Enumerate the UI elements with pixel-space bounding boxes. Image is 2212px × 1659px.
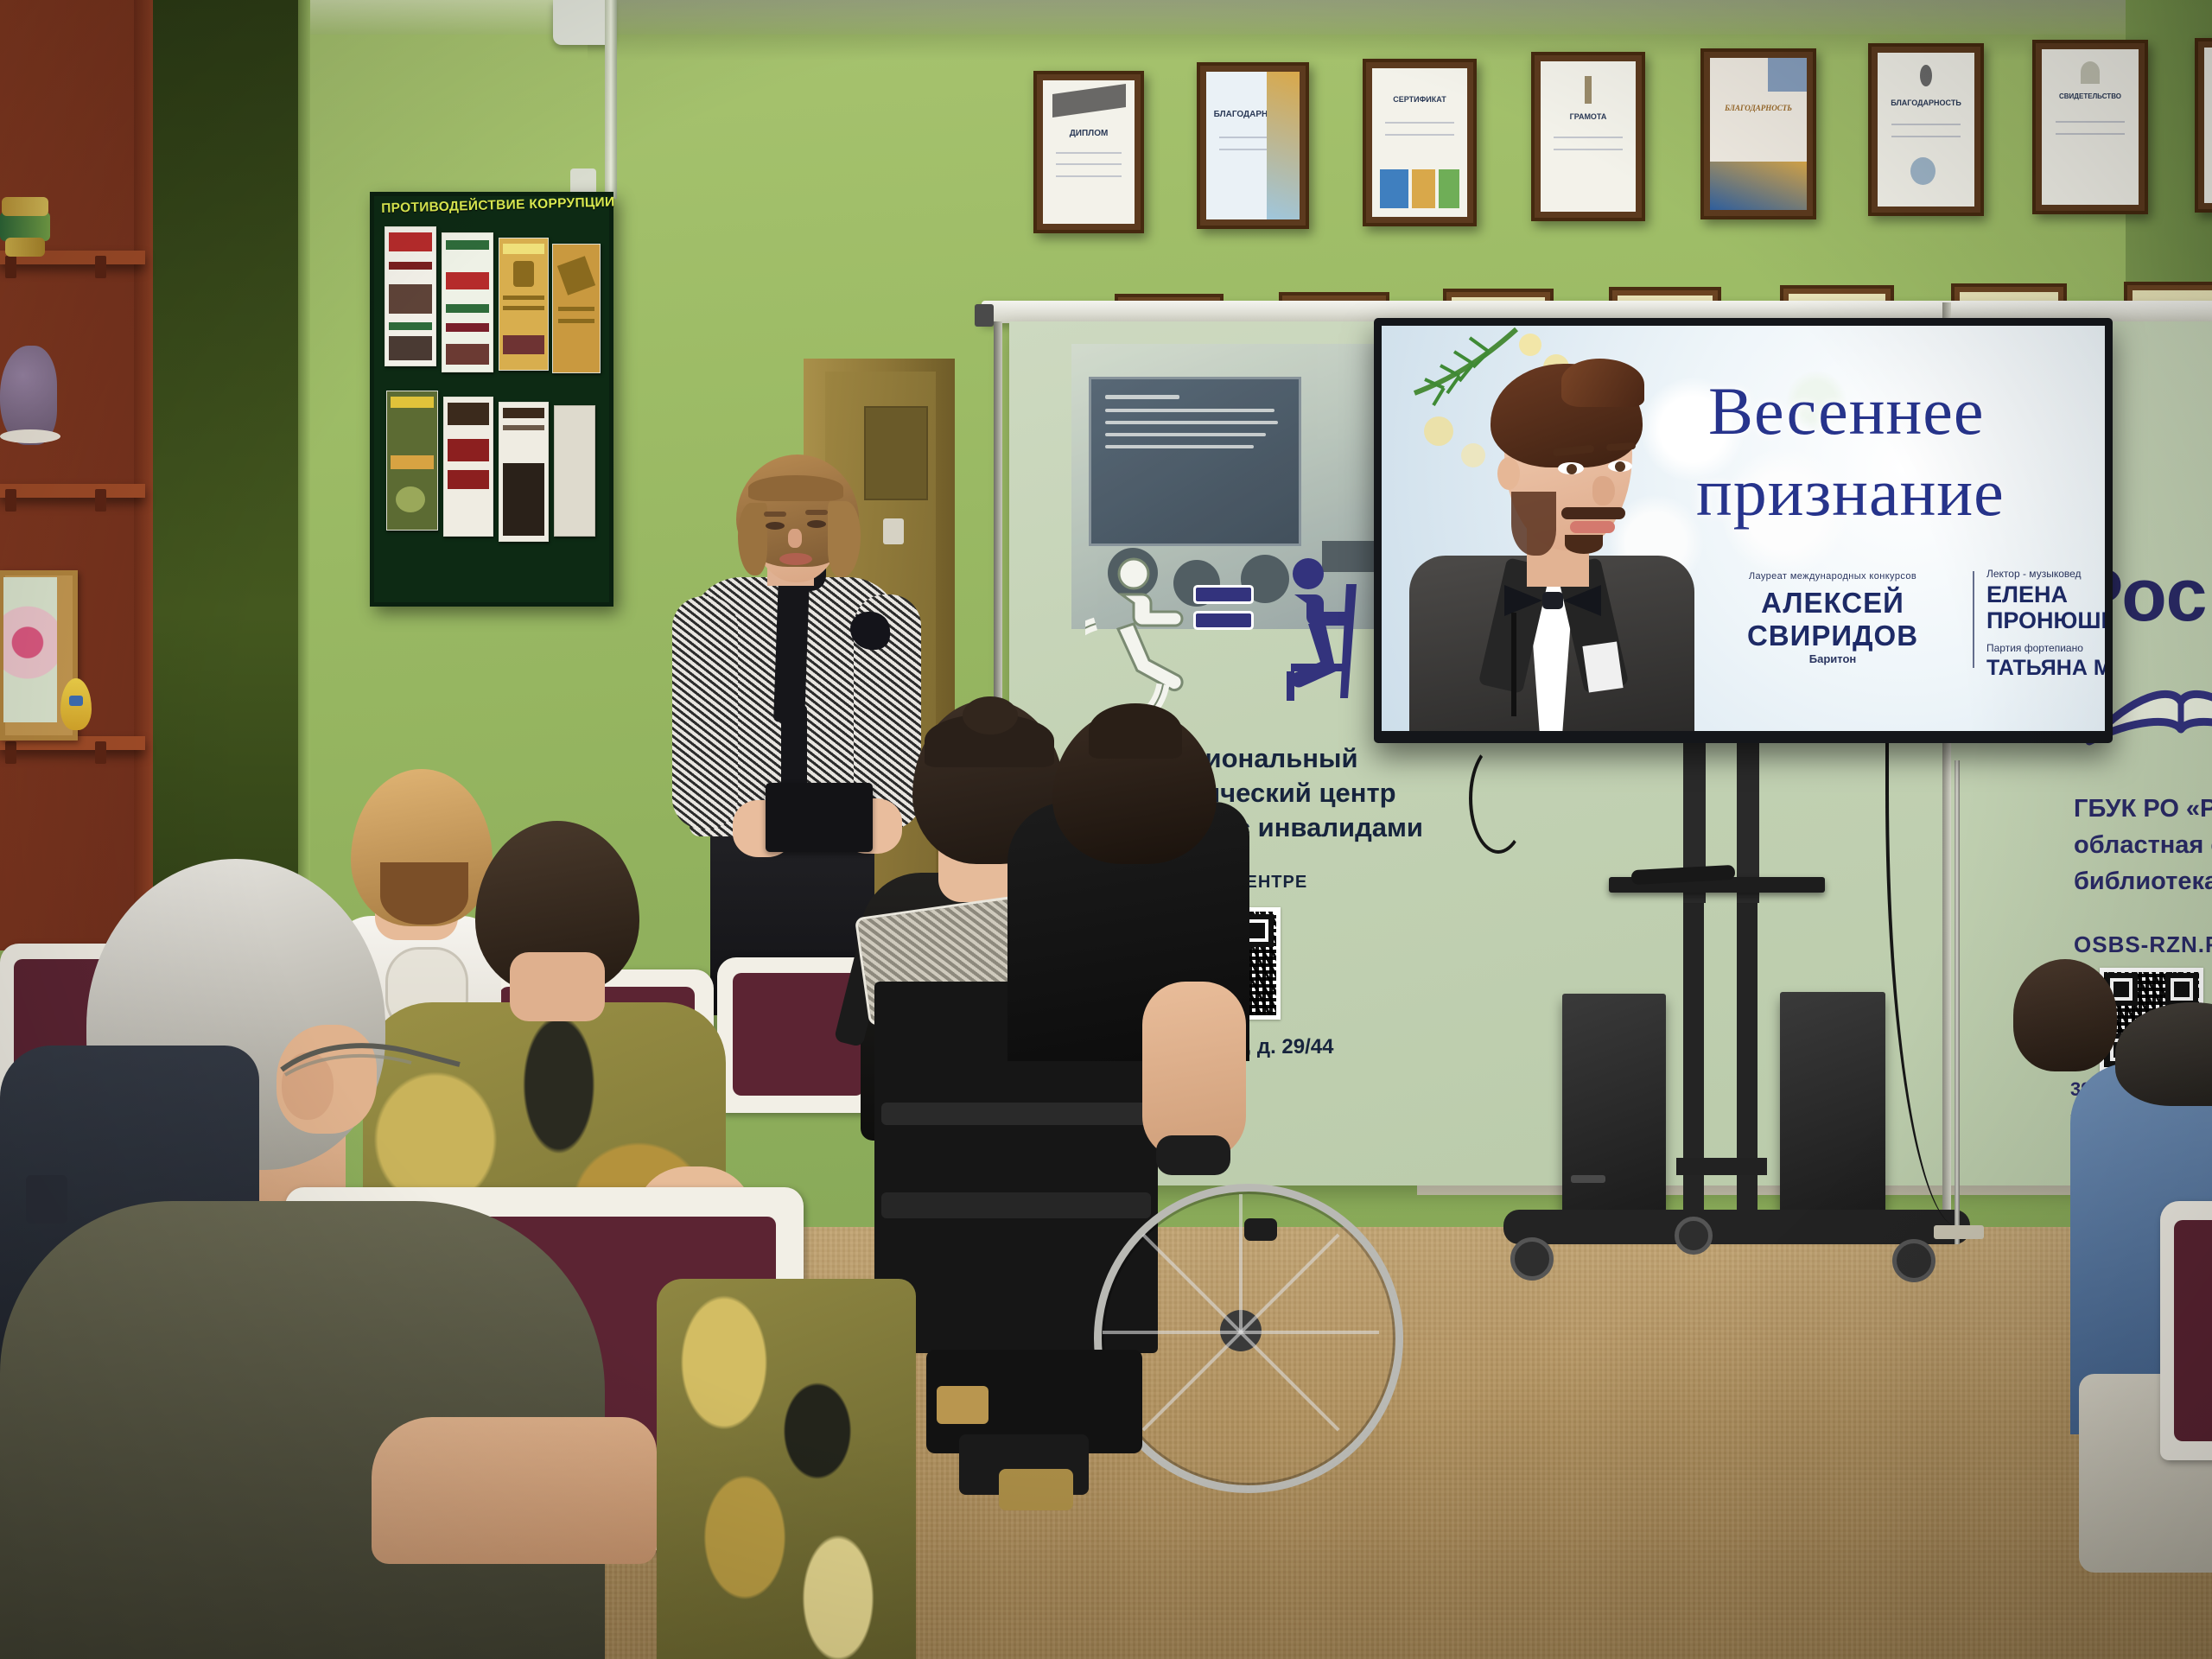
framed-certificate: [2195, 38, 2212, 213]
library-website[interactable]: OSBS-RZN.RU: [2074, 931, 2212, 958]
singer-hair-quiff: [1561, 359, 1644, 407]
framed-certificate: БЛАГОДАРНОСТЬ: [1868, 43, 1984, 216]
library-name-line-2: областная с…: [2074, 831, 2212, 860]
presenter-eye-left: [766, 522, 785, 530]
photo-scene: ПРОТИВОДЕЙСТВИЕ КОРРУПЦИИ: [0, 0, 2212, 1659]
poster-pianist-role: Партия фортепиано: [1986, 642, 2105, 654]
wheel-spoke: [1239, 1194, 1243, 1332]
poster-pianist-name: ТАТЬЯНА МОЗИНА: [1986, 656, 2105, 681]
board-leaflet: [443, 397, 493, 537]
mic-stand-base: [1934, 1225, 1984, 1239]
shelf-bracket: [95, 489, 106, 512]
poster-lecturer-name-2: ПРОНЮШКИНА: [1986, 607, 2105, 634]
decor-box-lid: [2, 197, 48, 216]
coiled-cable: [1469, 743, 1528, 854]
singer-chin-beard: [1565, 535, 1603, 554]
board-leaflet: [499, 238, 549, 371]
board-leaflet: [386, 391, 438, 531]
wheelchair-user-shoe: [937, 1386, 988, 1424]
presenter-hair-side-left: [738, 503, 767, 575]
anti-corruption-board: ПРОТИВОДЕЙСТВИЕ КОРРУПЦИИ: [370, 192, 613, 607]
equals-sign-top: [1196, 588, 1251, 601]
presenter-jacket-placket: [773, 576, 810, 722]
board-leaflet: [499, 402, 549, 542]
shelf-bracket: [5, 489, 16, 512]
framed-certificate: СЕРТИФИКАТ: [1363, 59, 1477, 226]
decor-matryoshka-pattern: [69, 696, 83, 706]
board-title: ПРОТИВОДЕЙСТВИЕ КОРРУПЦИИ: [381, 195, 607, 217]
wheelchair-user-shoe: [999, 1469, 1073, 1510]
singer-ear: [1497, 457, 1520, 490]
presenter-mouth: [779, 553, 812, 565]
framed-certificate: СВИДЕТЕЛЬСТВО: [2032, 40, 2148, 214]
framed-certificate: БЛАГОДАРНОСТЬ: [1700, 48, 1816, 219]
poster-performer-name-2: СВИРИДОВ: [1703, 620, 1962, 652]
presenter-eye-right: [807, 520, 826, 528]
banner-photo-screen: [1089, 377, 1301, 546]
poster-performer-prefix: Лауреат международных конкурсов: [1703, 571, 1962, 582]
audience-hair-right: [2115, 1002, 2212, 1106]
poster-title-line-1: Весеннее: [1708, 372, 1985, 450]
wheelchair-user-wrist-band: [1156, 1135, 1230, 1175]
poster-title-line-2: признание: [1696, 454, 2005, 531]
presenter-hair-side-right: [828, 501, 861, 577]
wheel-spoke: [1241, 1331, 1379, 1334]
equals-sign-bottom: [1196, 613, 1251, 627]
singer-moustache: [1561, 507, 1625, 519]
flat-screen-tv[interactable]: Весеннее признание Лауреат международных…: [1374, 318, 2113, 743]
rollup-banner-bracket: [975, 304, 994, 327]
board-leaflet: [385, 226, 436, 366]
wheelchair-user-hair-bun: [1089, 703, 1182, 759]
audience-back-row-head: [2013, 959, 2117, 1071]
decor-plate: [0, 429, 60, 443]
wall-pipe: [605, 0, 617, 199]
library-name-line-1: ГБУК РО «Р…: [2074, 795, 2212, 823]
presenter-eyebrow-left: [764, 512, 786, 517]
board-leaflet: [552, 244, 601, 373]
framed-certificate: ГРАМОТА: [1531, 52, 1645, 221]
eyeglasses-icon: [276, 1030, 467, 1125]
loudspeaker-right: [1780, 992, 1885, 1218]
wheelchair-user-arm: [1142, 982, 1246, 1160]
presenter-bangs: [748, 475, 843, 501]
caster-wheel: [1892, 1239, 1935, 1282]
singer-pupil: [1567, 464, 1577, 474]
singer-pupil: [1615, 461, 1625, 472]
tv-stand-pole-right: [1737, 890, 1758, 1231]
singer-beard: [1511, 492, 1556, 556]
bookcase-shelf: [0, 484, 145, 498]
shelf-bracket: [95, 256, 106, 278]
caster-wheel: [1510, 1237, 1554, 1281]
tv-screen: Весеннее признание Лауреат международных…: [1382, 326, 2105, 731]
singer-pocket-square: [1582, 641, 1623, 692]
shelf-bracket: [5, 741, 16, 764]
board-leaflet: [442, 232, 493, 372]
presenter-nose: [788, 529, 802, 548]
bookcase: [0, 0, 145, 950]
wheelchair-strap: [881, 1103, 1149, 1125]
singer-lips: [1570, 521, 1615, 533]
decor-box-base: [5, 238, 45, 257]
wheelchair-brake[interactable]: [1244, 1218, 1277, 1241]
wheelchair-strap: [881, 1192, 1151, 1218]
library-name-line-3: библиотека д…: [2074, 868, 2212, 896]
shelf-bracket: [95, 741, 106, 764]
poster-divider: [1973, 571, 1974, 668]
singer-nose: [1592, 476, 1615, 505]
singer-portrait: [1401, 340, 1712, 731]
jacket-pocket: [26, 1175, 67, 1224]
presenter-sleeve-left: [672, 596, 738, 829]
microphone-wire: [1511, 613, 1516, 716]
tv-stand-pole-left: [1683, 890, 1704, 1231]
tv-stand-base: [1503, 1210, 1970, 1244]
loudspeaker-left-badge: [1571, 1175, 1605, 1183]
seated-person-icon: [1265, 550, 1379, 714]
equality-icon-group: [1085, 550, 1344, 714]
microphone-stand: [1955, 760, 1960, 1244]
presenter-eyebrow-right: [805, 510, 828, 515]
poster-performer-name-1: АЛЕКСЕЙ: [1703, 587, 1962, 620]
decor-rose-embroidery: [3, 577, 57, 722]
bookcase-side-panel: [134, 0, 153, 950]
board-leaflet: [554, 405, 595, 537]
audience-floral-dress-lower: [657, 1279, 916, 1659]
shelf-bracket: [5, 256, 16, 278]
wheel-spoke: [1103, 1331, 1241, 1334]
poster-lecturer-role: Лектор - музыковед: [1986, 568, 2105, 580]
chair-seat-cushion: [2174, 1220, 2212, 1441]
audience-man-foreground-arm: [372, 1417, 657, 1564]
poster-lecturer-name-1: ЕЛЕНА: [1986, 582, 2105, 608]
loudspeaker-left: [1562, 994, 1666, 1218]
caster-wheel: [1675, 1217, 1713, 1255]
framed-certificate: ДИПЛОМ: [1033, 71, 1144, 233]
tv-stand-crossbar: [1676, 1158, 1767, 1175]
wheelchair-icon: [1085, 550, 1215, 714]
poster-performer-voice: Баритон: [1703, 652, 1962, 665]
decor-painted-box: [0, 212, 50, 241]
framed-certificate: БЛАГОДАРНОСТЬ: [1197, 62, 1309, 229]
